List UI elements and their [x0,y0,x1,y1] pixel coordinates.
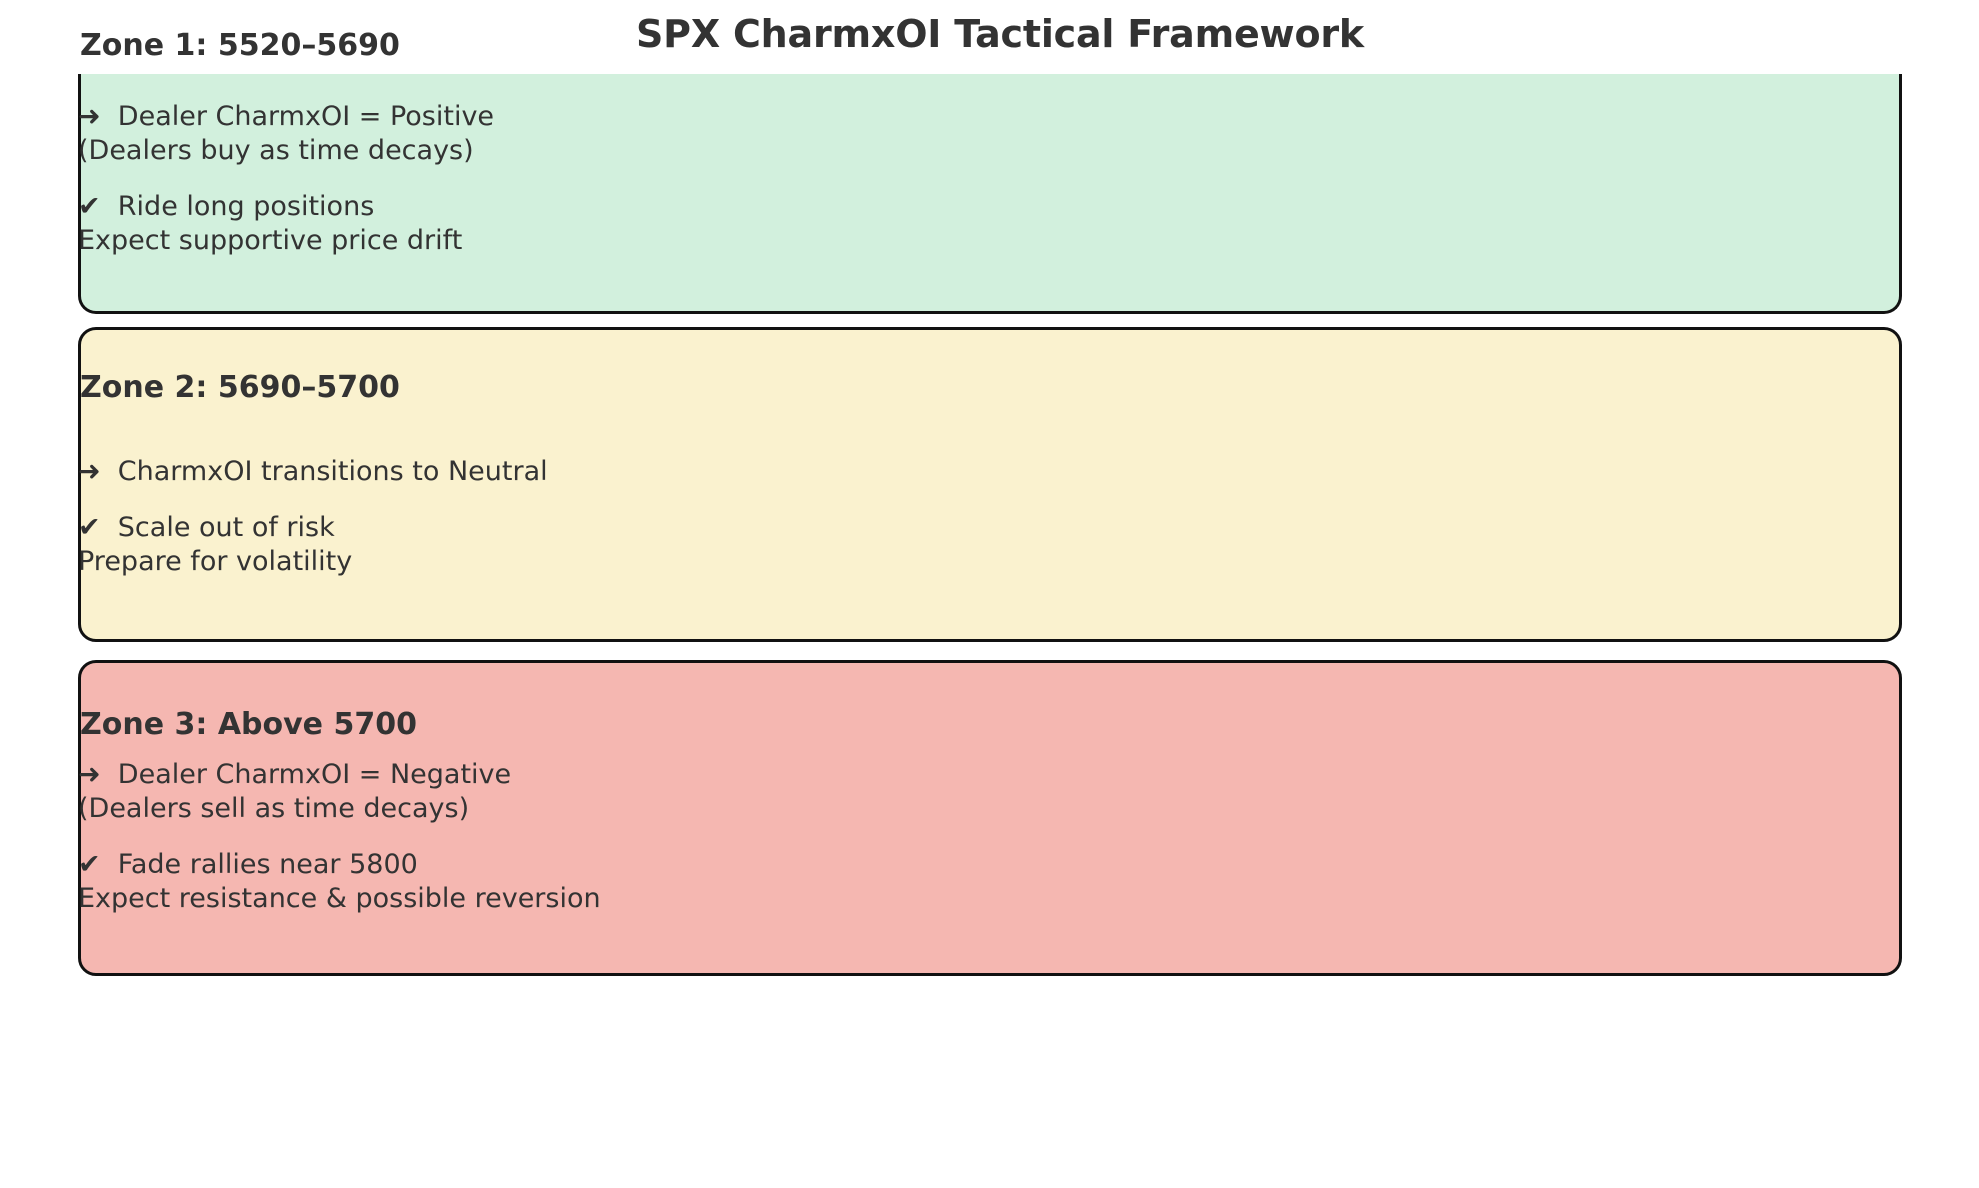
zone-3-action-line: ✔ Fade rallies near 5800 [78,848,1778,882]
zone-2-signal-line: ➜ CharmxOI transitions to Neutral [78,455,1778,489]
zone-2-action-text: Scale out of risk [118,512,335,543]
zone-1-action-note: Expect supportive price drift [78,224,1778,258]
zone-1-body: ➜ Dealer CharmxOI = Positive (Dealers bu… [78,100,1778,258]
check-icon: ✔ [78,848,118,882]
check-icon: ✔ [78,511,118,545]
zone-1-signal-line: ➜ Dealer CharmxOI = Positive [78,100,1778,134]
zone-1-heading: Zone 1: 5520–5690 [80,28,400,63]
zone-3-heading: Zone 3: Above 5700 [80,707,417,742]
arrow-icon: ➜ [78,100,118,134]
zone-3-signal-line: ➜ Dealer CharmxOI = Negative [78,758,1778,792]
zone-1-signal-note: (Dealers buy as time decays) [78,134,1778,168]
figure-canvas: SPX CharmxOI Tactical Framework Zone 1: … [0,0,1979,1188]
zone-1-action-text: Ride long positions [118,191,374,222]
check-icon: ✔ [78,190,118,224]
zone-3-action-text: Fade rallies near 5800 [118,849,418,880]
zone-2-signal-text: CharmxOI transitions to Neutral [118,456,548,487]
zone-1-action-line: ✔ Ride long positions [78,190,1778,224]
zone-1-signal-text: Dealer CharmxOI = Positive [118,101,494,132]
zone-3-signal-note: (Dealers sell as time decays) [78,792,1778,826]
zone-3-action-note: Expect resistance & possible reversion [78,882,1778,916]
zone-3-signal-text: Dealer CharmxOI = Negative [118,759,511,790]
page-title: SPX CharmxOI Tactical Framework [570,12,1430,56]
zone-2-heading: Zone 2: 5690–5700 [80,370,400,405]
zone-2-action-note: Prepare for volatility [78,545,1778,579]
zone-2-body: ➜ CharmxOI transitions to Neutral ✔ Scal… [78,455,1778,579]
arrow-icon: ➜ [78,758,118,792]
zone-3-body: ➜ Dealer CharmxOI = Negative (Dealers se… [78,758,1778,916]
zone-2-action-line: ✔ Scale out of risk [78,511,1778,545]
arrow-icon: ➜ [78,455,118,489]
